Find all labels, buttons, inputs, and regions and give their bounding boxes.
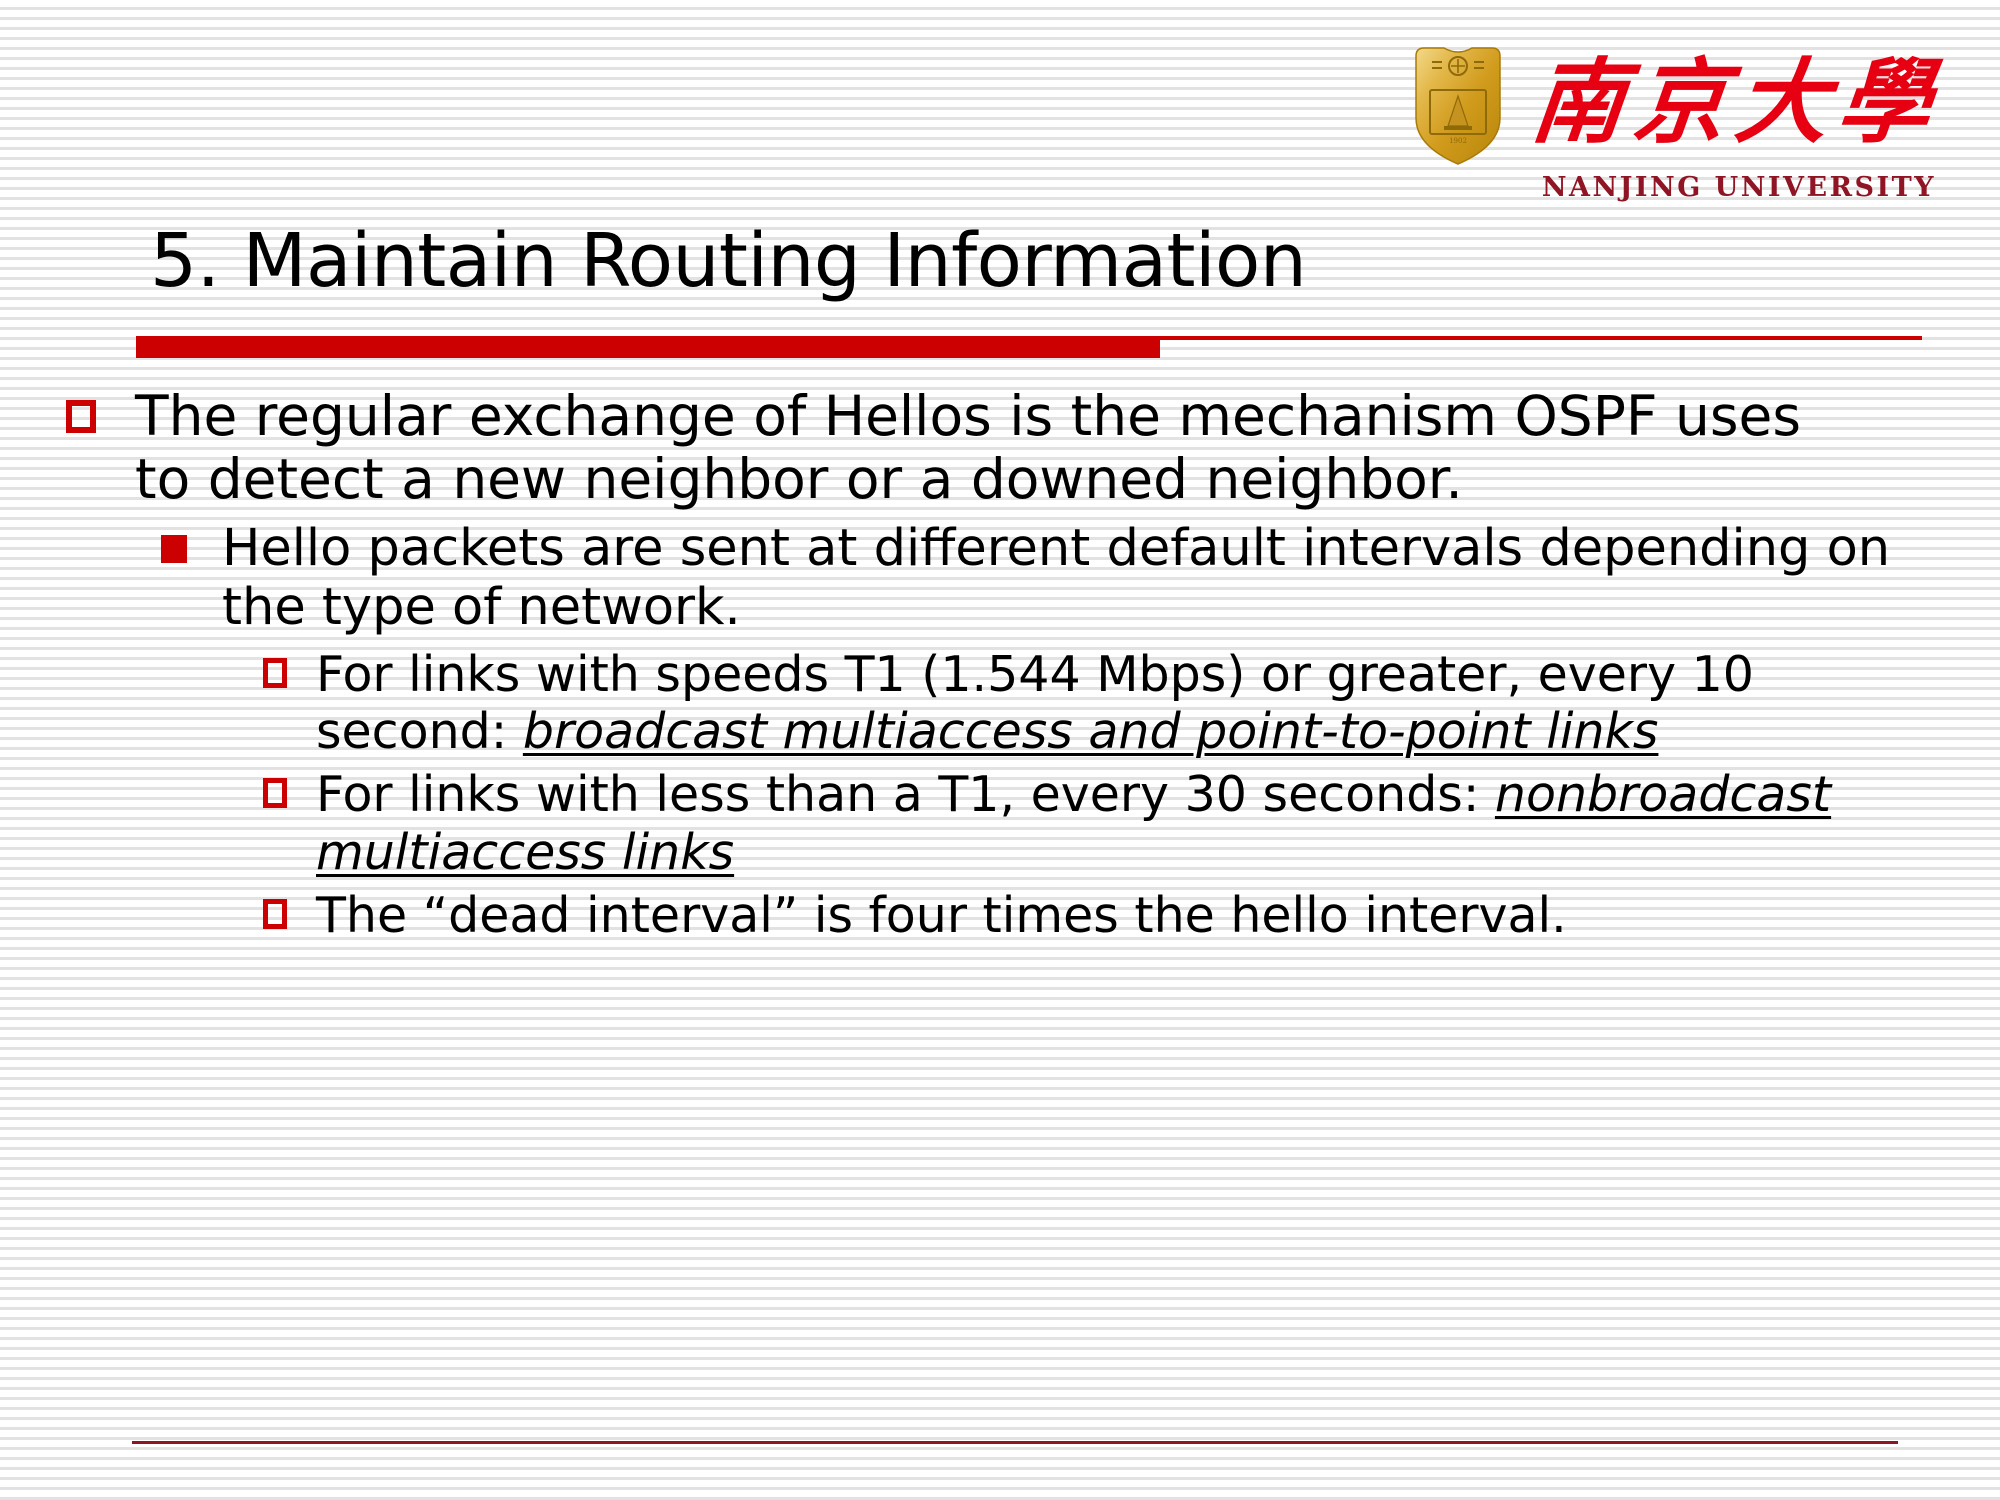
bullet-level3: For links with speeds T1 (1.544 Mbps) or… bbox=[252, 646, 1952, 761]
university-english-name: NANJING UNIVERSITY bbox=[1542, 172, 1936, 203]
bullet-level3-emphasis: broadcast multiaccess and point-to-point… bbox=[523, 703, 1659, 760]
bullet-level1: The regular exchange of Hellos is the me… bbox=[52, 385, 1952, 510]
hollow-red-square-small-icon bbox=[252, 766, 298, 820]
hollow-red-square-small-icon bbox=[252, 646, 298, 700]
bullet-level2-text: Hello packets are sent at different defa… bbox=[200, 520, 1952, 637]
bullet-level2: Hello packets are sent at different defa… bbox=[148, 520, 1952, 637]
svg-text:1902: 1902 bbox=[1449, 137, 1467, 145]
bullet-level3: For links with less than a T1, every 30 … bbox=[252, 766, 1952, 881]
logo-row: 1902 南京大學 bbox=[1410, 42, 1940, 168]
bullet-level3-plain: For links with less than a T1, every 30 … bbox=[316, 766, 1495, 823]
slide-body: The regular exchange of Hellos is the me… bbox=[52, 385, 1952, 950]
university-branding: 1902 南京大學 NANJING UNIVERSITY bbox=[1410, 42, 1940, 203]
hollow-red-square-small-icon bbox=[252, 887, 298, 941]
bullet-level3-text: For links with less than a T1, every 30 … bbox=[298, 766, 1876, 881]
nanjing-university-crest-icon: 1902 bbox=[1410, 42, 1506, 168]
title-divider bbox=[136, 336, 1922, 358]
hollow-red-square-icon bbox=[52, 385, 110, 447]
filled-red-square-icon bbox=[148, 520, 200, 578]
bullet-level3-text: For links with speeds T1 (1.544 Mbps) or… bbox=[298, 646, 1876, 761]
title-divider-thick-bar bbox=[136, 336, 1160, 358]
university-chinese-name: 南京大學 bbox=[1527, 56, 1945, 154]
bullet-level1-text: The regular exchange of Hellos is the me… bbox=[110, 385, 1835, 510]
bullet-level3-plain: The “dead interval” is four times the he… bbox=[316, 887, 1567, 944]
footer-divider bbox=[132, 1441, 1898, 1444]
bullet-level3-text: The “dead interval” is four times the he… bbox=[298, 887, 1567, 944]
page-title: 5. Maintain Routing Information bbox=[150, 218, 1306, 304]
slide: 1902 南京大學 NANJING UNIVERSITY 5. Maintain… bbox=[0, 0, 2000, 1500]
bullet-level3: The “dead interval” is four times the he… bbox=[252, 887, 1952, 944]
